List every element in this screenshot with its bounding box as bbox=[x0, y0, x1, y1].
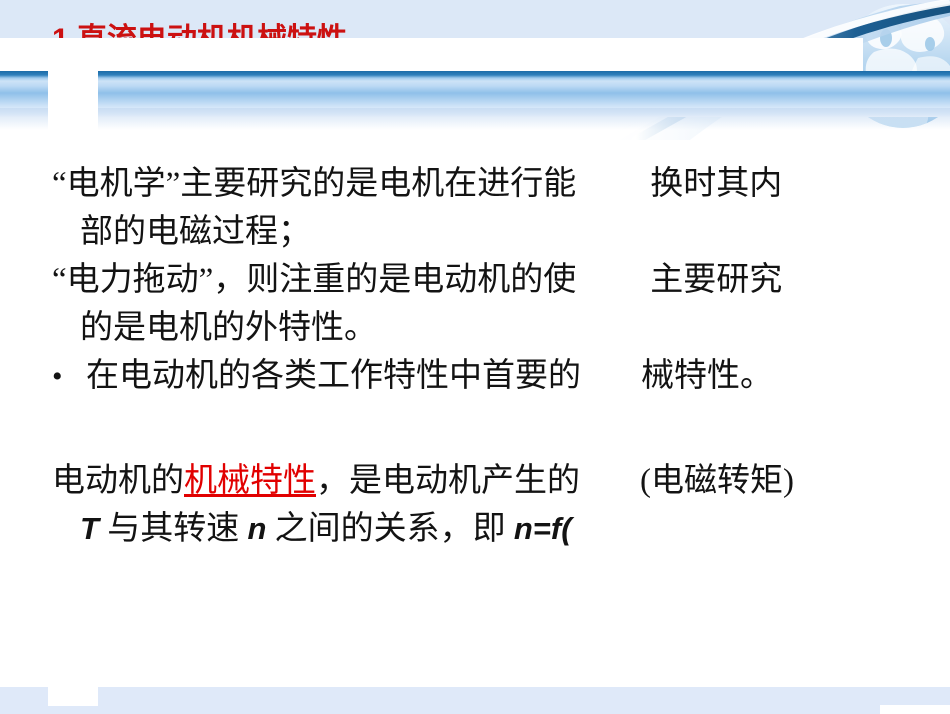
paragraph-1-line-1b: 换时其内 bbox=[650, 166, 782, 202]
formula-expression: n=f( bbox=[514, 511, 572, 546]
paragraph-1: “电机学”主要研究的是电机在进行能换时其内 部的电磁过程； bbox=[0, 160, 950, 256]
paragraph-1-line-2: 部的电磁过程； bbox=[52, 208, 950, 256]
paragraph-2-line-2: 的是电机的外特性。 bbox=[52, 304, 950, 352]
paragraph-3-mid-a: 与其转速 bbox=[107, 511, 239, 547]
bullet-marker: • bbox=[52, 353, 86, 401]
stripe-notch bbox=[48, 66, 98, 136]
bullet-1-line-1a: 在电动机的各类工作特性中首要的 bbox=[86, 358, 581, 394]
paragraph-3-line-2: T 与其转速 n 之间的关系，即 n=f( bbox=[52, 505, 950, 553]
paragraph-3-prefix: 电动机的 bbox=[52, 463, 184, 499]
variable-n: n bbox=[247, 511, 266, 546]
body-spacer bbox=[0, 401, 950, 457]
footer-band bbox=[0, 687, 950, 714]
bullet-item-1: •在电动机的各类工作特性中首要的械特性。 bbox=[0, 352, 950, 401]
paragraph-2: “电力拖动”，则注重的是电动机的使主要研究 的是电机的外特性。 bbox=[0, 256, 950, 352]
white-cover-band bbox=[0, 38, 863, 71]
paragraph-3: 电动机的机械特性，是电动机产生的(电磁转矩) T 与其转速 n 之间的关系，即 … bbox=[0, 457, 950, 553]
bullet-1-line-1b: 械特性。 bbox=[641, 358, 773, 394]
footer-notch bbox=[48, 680, 98, 706]
slide-body: “电机学”主要研究的是电机在进行能换时其内 部的电磁过程； “电力拖动”，则注重… bbox=[0, 160, 950, 553]
paragraph-2-line-1a: “电力拖动”，则注重的是电动机的使 bbox=[52, 262, 576, 298]
paragraph-3-tail: (电磁转矩) bbox=[640, 463, 794, 499]
variable-t: T bbox=[80, 511, 99, 546]
paragraph-2-line-1b: 主要研究 bbox=[650, 262, 782, 298]
paragraph-3-mid-b: 之间的关系，即 bbox=[275, 511, 506, 547]
header-stripe-fade bbox=[0, 108, 950, 130]
footer-step bbox=[880, 705, 950, 714]
highlight-term: 机械特性 bbox=[184, 463, 316, 499]
paragraph-1-line-1a: “电机学”主要研究的是电机在进行能 bbox=[52, 166, 576, 202]
paragraph-3-post: ，是电动机产生的 bbox=[316, 463, 580, 499]
slide-canvas: 1.直流电动机机械特性 bbox=[0, 0, 950, 714]
